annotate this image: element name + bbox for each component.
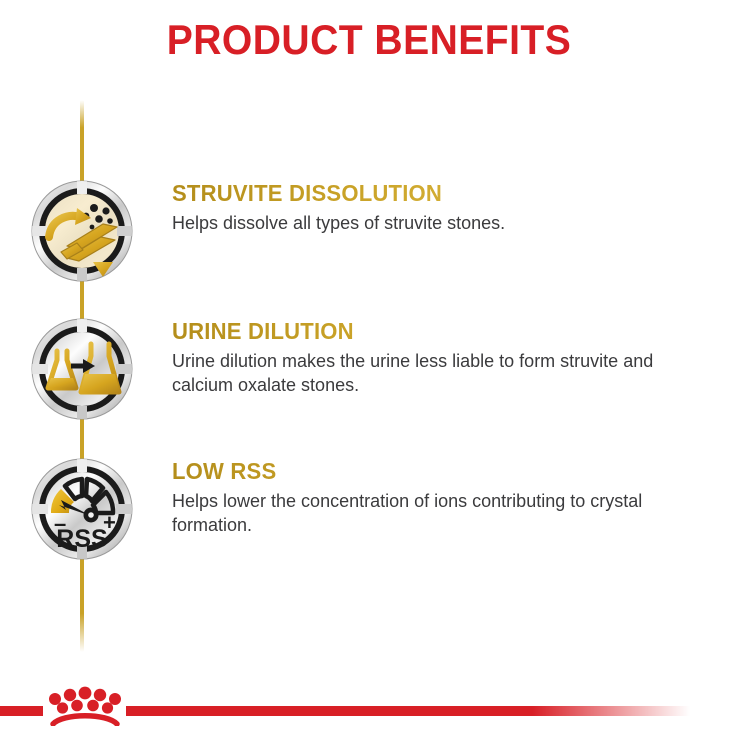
benefit-text-block: URINE DILUTION Urine dilution makes the … bbox=[172, 318, 692, 397]
struvite-crystals-dissolving-icon bbox=[31, 180, 133, 282]
benefit-item-urine-dilution: URINE DILUTION Urine dilution makes the … bbox=[0, 318, 738, 422]
benefit-heading: URINE DILUTION bbox=[172, 318, 671, 344]
footer-rule-right bbox=[126, 706, 690, 716]
two-beakers-dilution-icon bbox=[31, 318, 133, 420]
royal-canin-crown-logo bbox=[41, 686, 129, 726]
benefit-item-low-rss: – + RSS LOW RSS Helps lower the concentr… bbox=[0, 458, 738, 562]
product-benefits-infographic: PRODUCT BENEFITS bbox=[0, 0, 738, 745]
rss-gauge-icon: – + RSS bbox=[31, 458, 133, 560]
benefit-heading: LOW RSS bbox=[172, 458, 671, 484]
gauge-rss-label: RSS bbox=[56, 525, 107, 553]
benefit-description: Helps lower the concentration of ions co… bbox=[172, 489, 672, 537]
footer-rule-left bbox=[0, 706, 43, 716]
benefit-text-block: LOW RSS Helps lower the concentration of… bbox=[172, 458, 692, 537]
benefit-item-struvite-dissolution: STRUVITE DISSOLUTION Helps dissolve all … bbox=[0, 180, 738, 284]
benefit-description: Helps dissolve all types of struvite sto… bbox=[172, 211, 672, 235]
benefit-text-block: STRUVITE DISSOLUTION Helps dissolve all … bbox=[172, 180, 692, 235]
benefit-heading: STRUVITE DISSOLUTION bbox=[172, 180, 671, 206]
page-title: PRODUCT BENEFITS bbox=[26, 17, 712, 63]
benefit-description: Urine dilution makes the urine less liab… bbox=[172, 349, 672, 397]
